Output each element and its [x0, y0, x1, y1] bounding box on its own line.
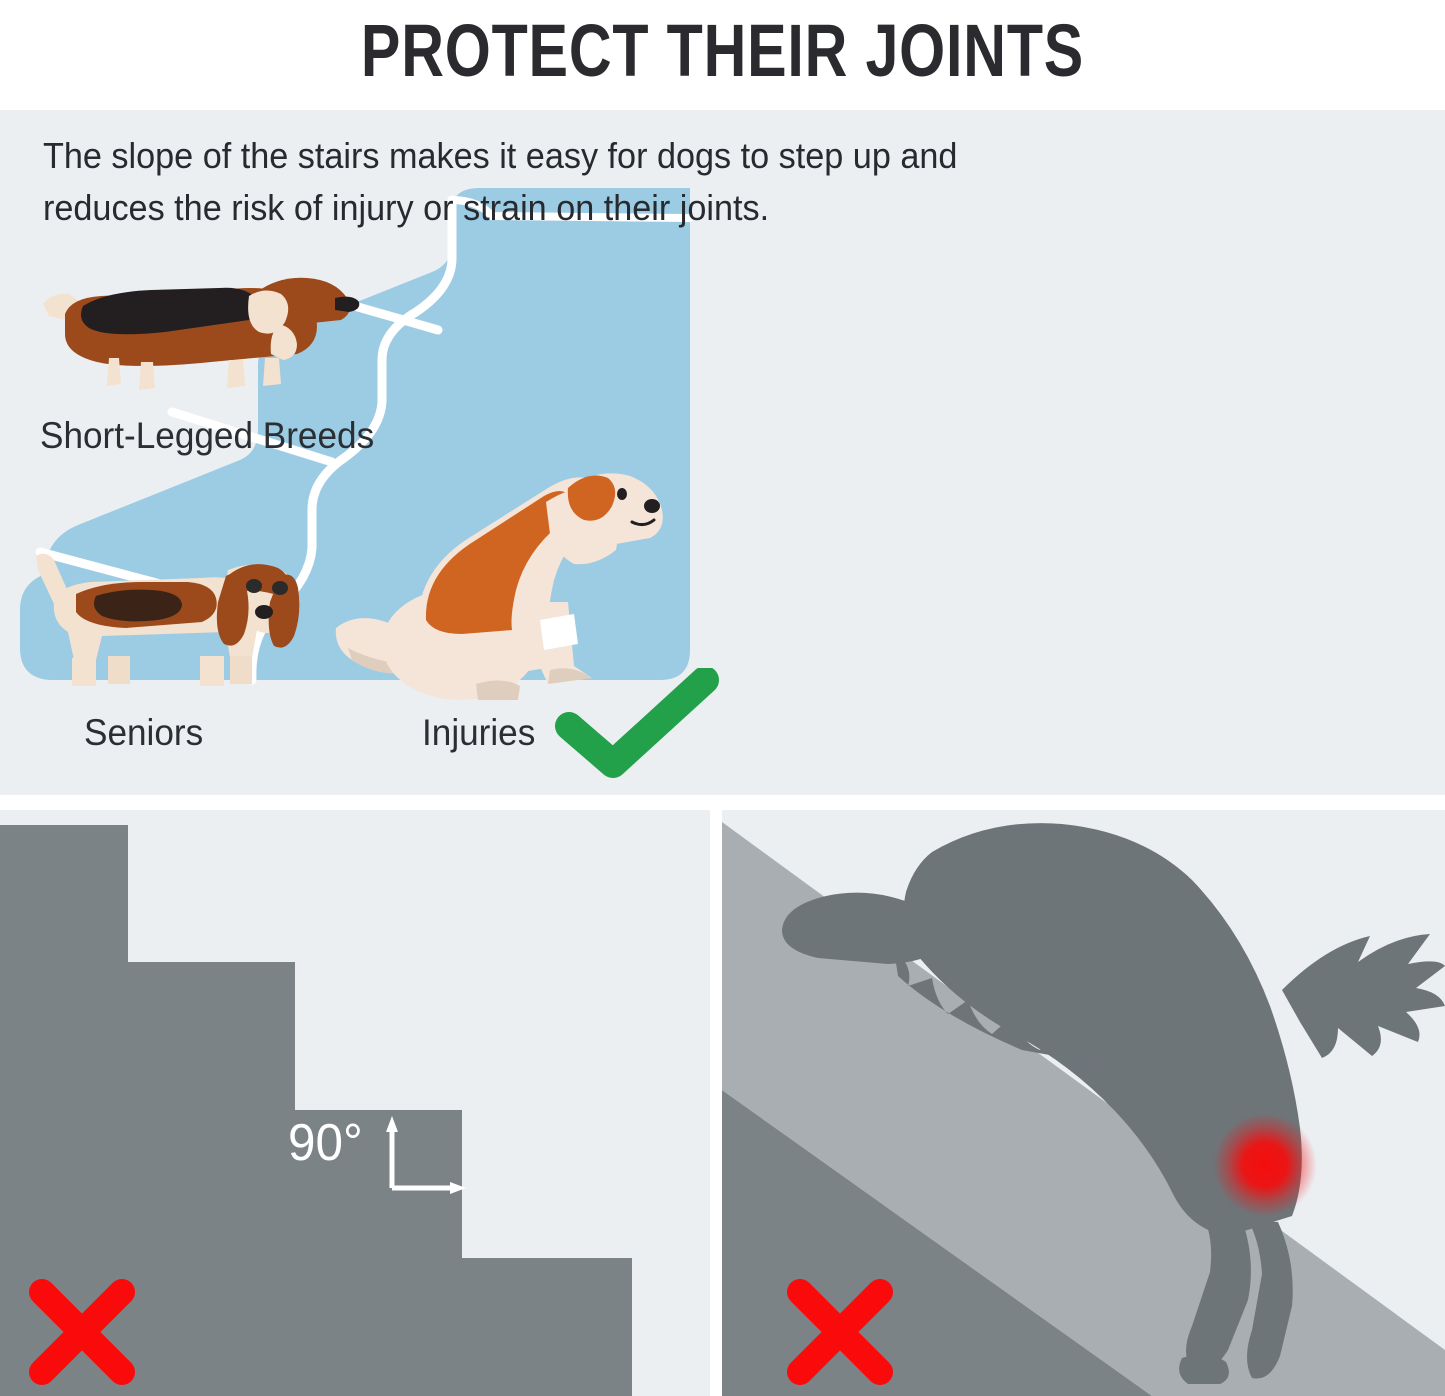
red-x-icon: [22, 1272, 142, 1392]
bottom-right-panel: [722, 810, 1445, 1396]
breed-label-short-legged: Short-Legged Breeds: [40, 415, 374, 457]
breed-label-seniors: Seniors: [84, 712, 203, 754]
red-x-icon: [780, 1272, 900, 1392]
infographic-page: PROTECT THEIR JOINTS: [0, 0, 1445, 1396]
angle-annotation-90deg: 90°: [288, 1113, 363, 1173]
red-joint-pain-glow: [1213, 1113, 1317, 1217]
bottom-left-panel: [0, 810, 710, 1396]
basset-hound-standing-icon: [30, 540, 320, 695]
lead-paragraph: The slope of the stairs makes it easy fo…: [43, 130, 1003, 234]
sitting-dog-bandaged-leg-icon: [330, 462, 670, 702]
page-title: PROTECT THEIR JOINTS: [145, 0, 1301, 100]
breed-label-injuries: Injuries: [422, 712, 535, 754]
basset-hound-walking-icon: [35, 262, 365, 392]
